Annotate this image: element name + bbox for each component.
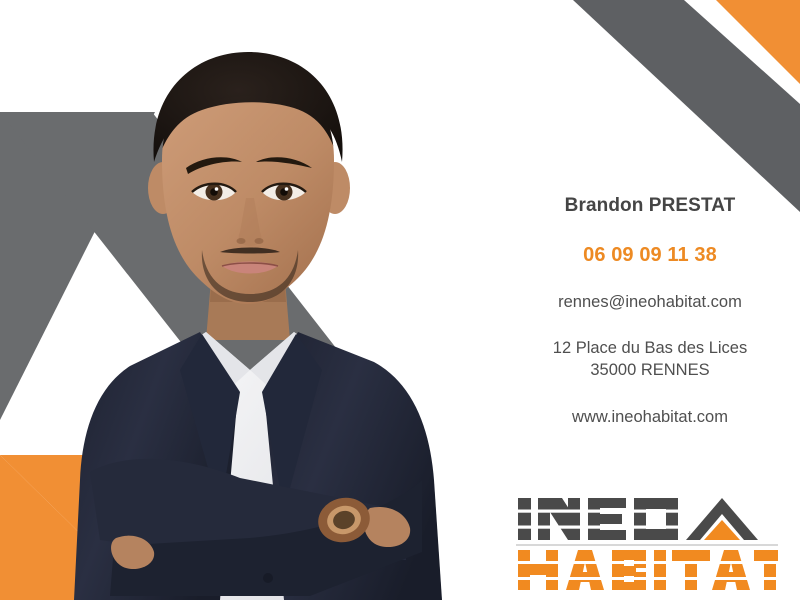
contact-phone[interactable]: 06 09 09 11 38 <box>500 244 800 266</box>
contact-name: Brandon PRESTAT <box>500 196 800 217</box>
ineo-habitat-logo[interactable] <box>516 492 778 592</box>
contact-email[interactable]: rennes@ineohabitat.com <box>500 293 800 311</box>
contact-website[interactable]: www.ineohabitat.com <box>500 408 800 426</box>
logo-word-ineo <box>516 498 682 540</box>
logo-divider <box>516 544 778 546</box>
address-line-1: 12 Place du Bas des Lices <box>500 337 800 359</box>
business-card: Brandon PRESTAT 06 09 09 11 38 rennes@in… <box>0 0 800 600</box>
roof-chevron-icon <box>686 498 758 540</box>
contact-address: 12 Place du Bas des Lices 35000 RENNES <box>500 337 800 382</box>
address-line-2: 35000 RENNES <box>500 359 800 381</box>
contact-info-block: Brandon PRESTAT 06 09 09 11 38 rennes@in… <box>500 196 800 426</box>
portrait-photo <box>70 40 520 600</box>
suit-button <box>263 573 273 583</box>
logo-word-habitat <box>516 550 778 590</box>
